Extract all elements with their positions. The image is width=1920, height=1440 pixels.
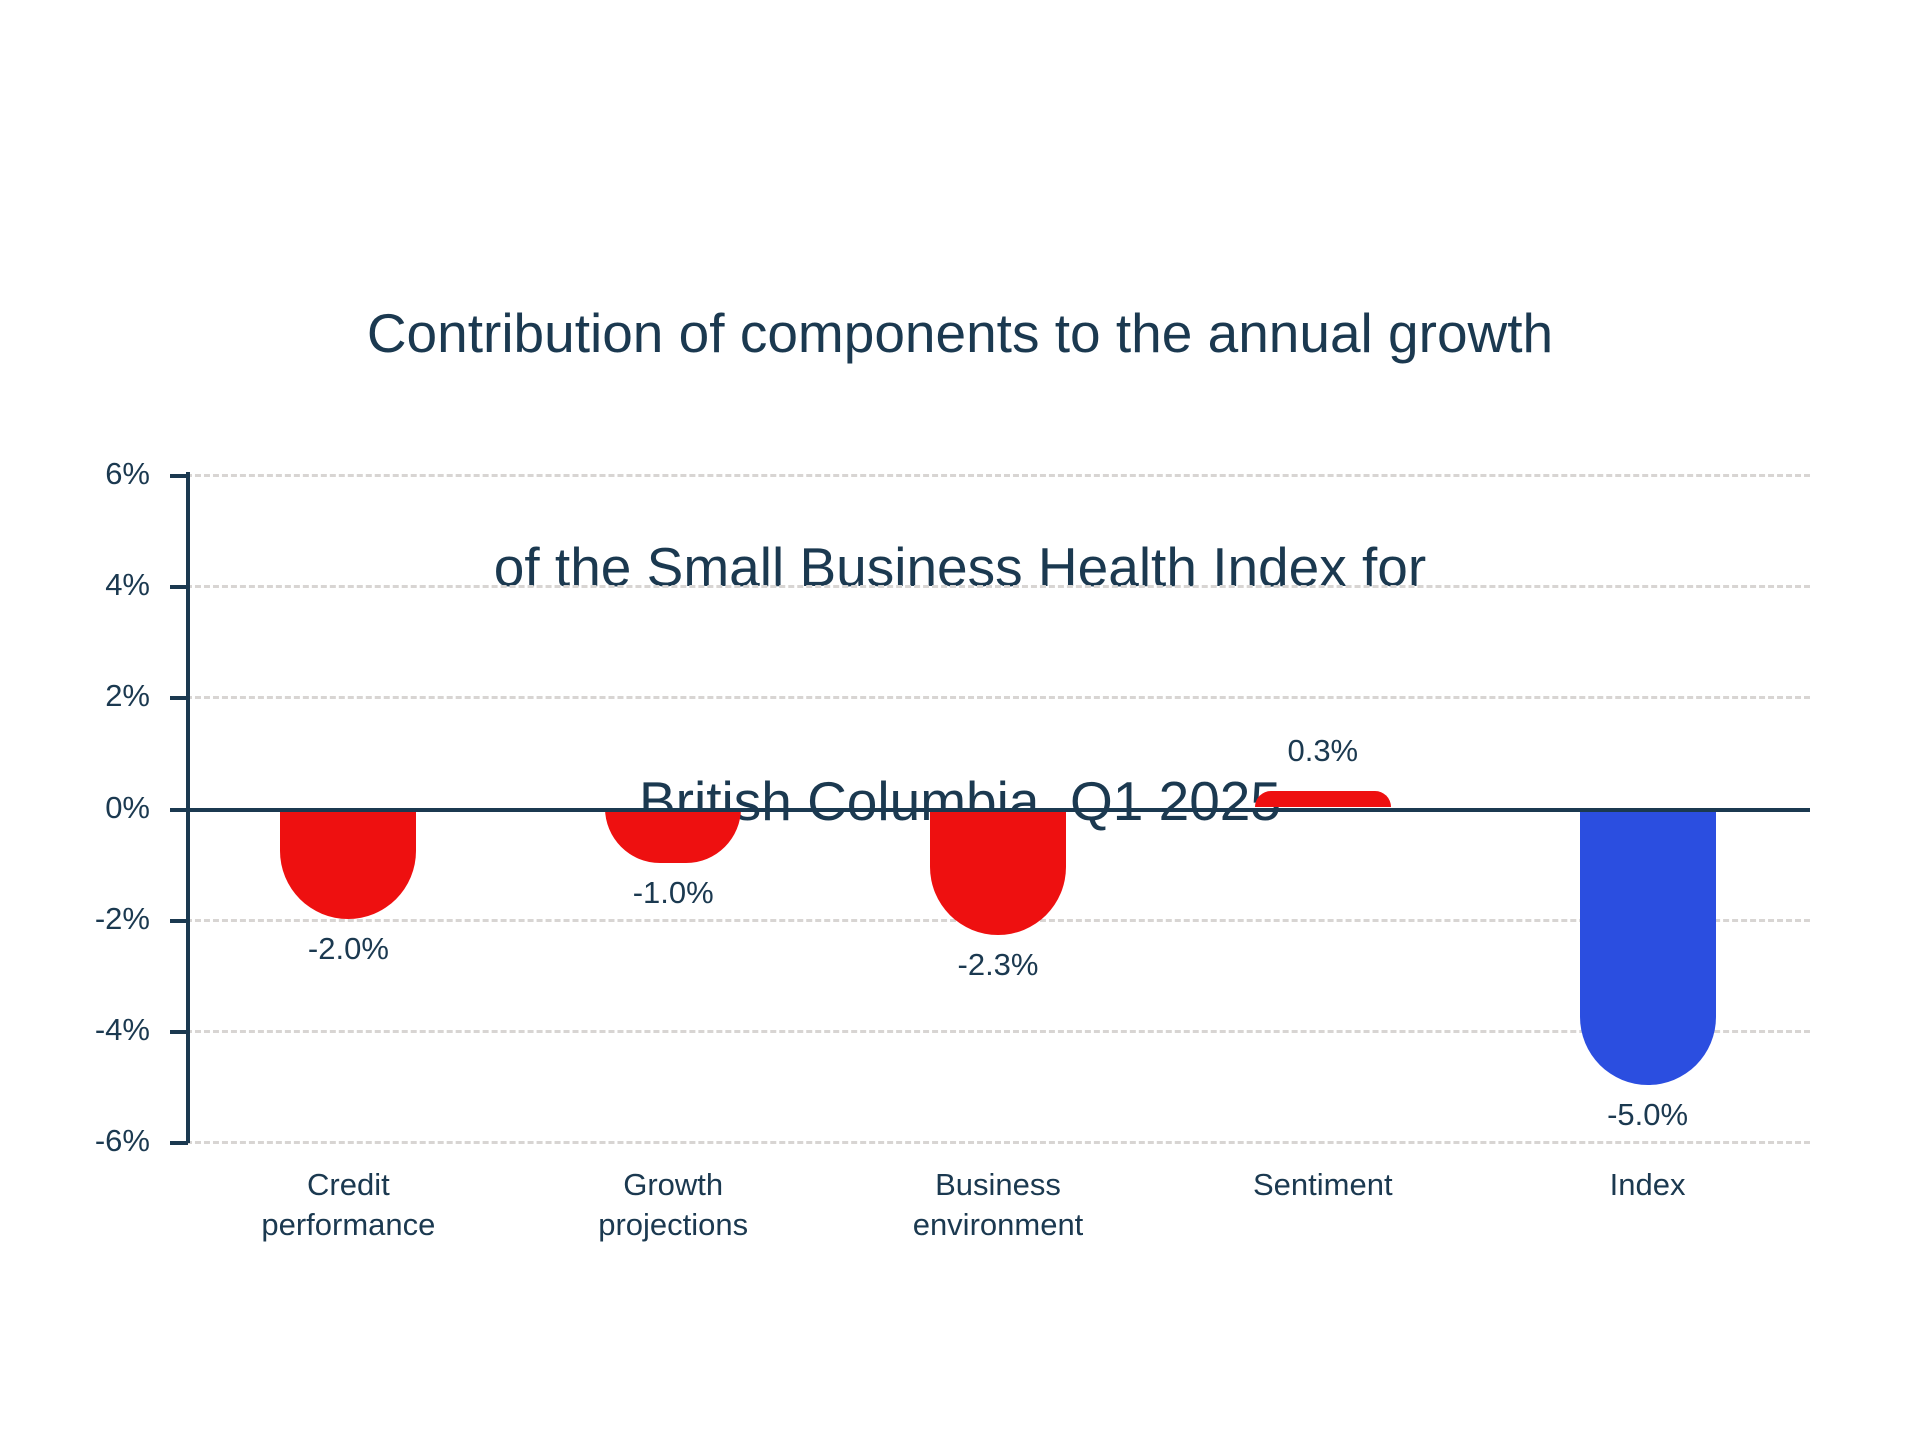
gridline bbox=[186, 696, 1810, 699]
x-axis-category-label: Growth projections bbox=[523, 1165, 823, 1245]
gridline bbox=[186, 585, 1810, 588]
y-axis-tick bbox=[170, 919, 188, 923]
zero-axis-line bbox=[178, 808, 1810, 812]
y-axis-label: -6% bbox=[30, 1123, 150, 1159]
y-axis-label: -4% bbox=[30, 1012, 150, 1048]
bar-value-label: -2.3% bbox=[958, 947, 1039, 983]
y-axis-label: 4% bbox=[30, 567, 150, 603]
y-axis-tick bbox=[170, 585, 188, 589]
bar-5[interactable] bbox=[1580, 808, 1716, 1086]
gridline bbox=[186, 1141, 1810, 1144]
bar-value-label: -5.0% bbox=[1607, 1097, 1688, 1133]
y-axis-label: 0% bbox=[30, 790, 150, 826]
x-axis-category-label: Business environment bbox=[848, 1165, 1148, 1245]
y-axis-tick bbox=[170, 808, 188, 812]
bar-4[interactable] bbox=[1255, 791, 1391, 808]
x-axis-category-label: Sentiment bbox=[1173, 1165, 1473, 1205]
chart-container: Contribution of components to the annual… bbox=[0, 0, 1920, 1440]
bar-value-label: -1.0% bbox=[633, 875, 714, 911]
gridline bbox=[186, 474, 1810, 477]
bar-value-label: -2.0% bbox=[308, 931, 389, 967]
y-axis-tick bbox=[170, 1030, 188, 1034]
y-axis-tick bbox=[170, 474, 188, 478]
x-axis-category-label: Index bbox=[1498, 1165, 1798, 1205]
chart-title-line-1: Contribution of components to the annual… bbox=[0, 294, 1920, 372]
bar-value-label: 0.3% bbox=[1287, 733, 1358, 769]
gridline bbox=[186, 1030, 1810, 1033]
x-axis-category-label: Credit performance bbox=[198, 1165, 498, 1245]
y-axis-tick bbox=[170, 1141, 188, 1145]
y-axis-tick bbox=[170, 696, 188, 700]
plot-area bbox=[186, 474, 1810, 1141]
y-axis-label: -2% bbox=[30, 901, 150, 937]
y-axis-label: 2% bbox=[30, 678, 150, 714]
y-axis-label: 6% bbox=[30, 456, 150, 492]
